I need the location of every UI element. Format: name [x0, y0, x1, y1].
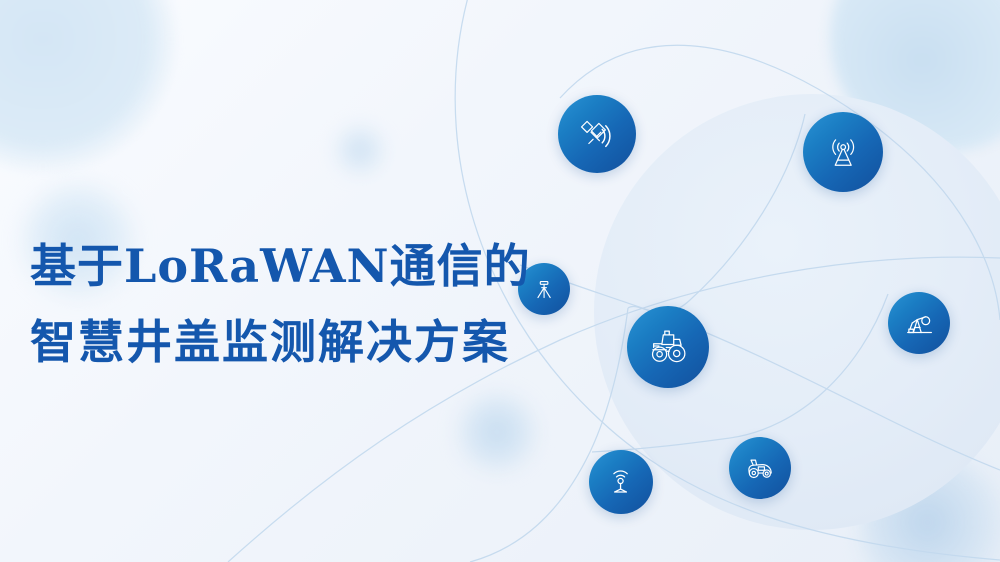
decorative-blob-top-left — [0, 0, 178, 174]
decorative-blob-upper-center — [330, 120, 390, 180]
wireless-sensor-icon — [602, 463, 639, 500]
oil-pumpjack-icon — [901, 305, 937, 341]
node-satellite[interactable] — [558, 95, 636, 173]
broadcast-tower-icon — [820, 129, 866, 175]
title-block: 基于LoRaWAN通信的 智慧井盖监测解决方案 — [30, 228, 570, 380]
node-tractor[interactable] — [627, 306, 709, 388]
decorative-blob-bottom-right — [860, 455, 1000, 562]
tractor-icon — [644, 323, 692, 371]
title-line-2: 智慧井盖监测解决方案 — [30, 304, 570, 380]
slide-canvas: 基于LoRaWAN通信的 智慧井盖监测解决方案 — [0, 0, 1000, 562]
node-oil-pumpjack[interactable] — [888, 292, 950, 354]
harvester-icon — [742, 450, 778, 486]
node-harvester[interactable] — [729, 437, 791, 499]
satellite-icon — [574, 111, 619, 156]
node-wireless-sensor[interactable] — [589, 450, 653, 514]
node-broadcast-tower[interactable] — [803, 112, 883, 192]
title-line-1: 基于LoRaWAN通信的 — [30, 228, 570, 304]
decorative-blob-center — [455, 390, 539, 474]
